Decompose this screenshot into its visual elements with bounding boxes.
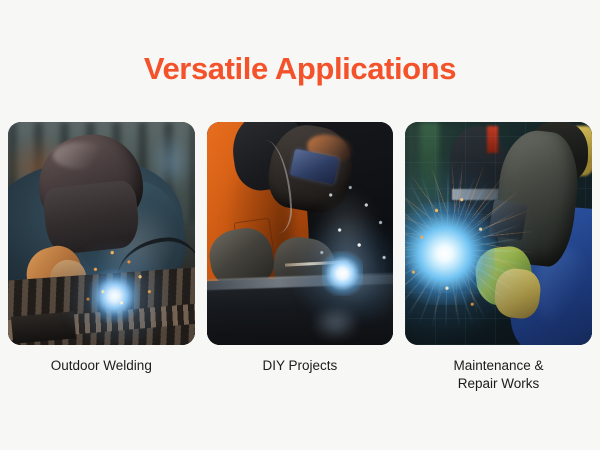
photo-outdoor-welding (8, 122, 195, 345)
image-card-row (8, 122, 592, 345)
caption-outdoor-welding: Outdoor Welding (8, 357, 195, 393)
photo-diy-projects (207, 122, 394, 345)
image-card-outdoor-welding[interactable] (8, 122, 195, 345)
spark-particles (75, 234, 168, 328)
photo-maintenance-repair (405, 122, 592, 345)
bench-reflection (311, 305, 360, 341)
image-card-diy-projects[interactable] (207, 122, 394, 345)
spark-particles (405, 189, 509, 323)
caption-row: Outdoor Welding DIY Projects Maintenance… (8, 357, 592, 393)
image-card-maintenance-repair[interactable] (405, 122, 592, 345)
page-title: Versatile Applications (0, 50, 600, 88)
helmet-highlight (53, 142, 109, 169)
caption-maintenance-repair: Maintenance & Repair Works (405, 357, 592, 393)
promo-poster: Versatile Applications (0, 0, 600, 450)
caption-diy-projects: DIY Projects (207, 357, 394, 393)
spark-particles (304, 180, 394, 305)
